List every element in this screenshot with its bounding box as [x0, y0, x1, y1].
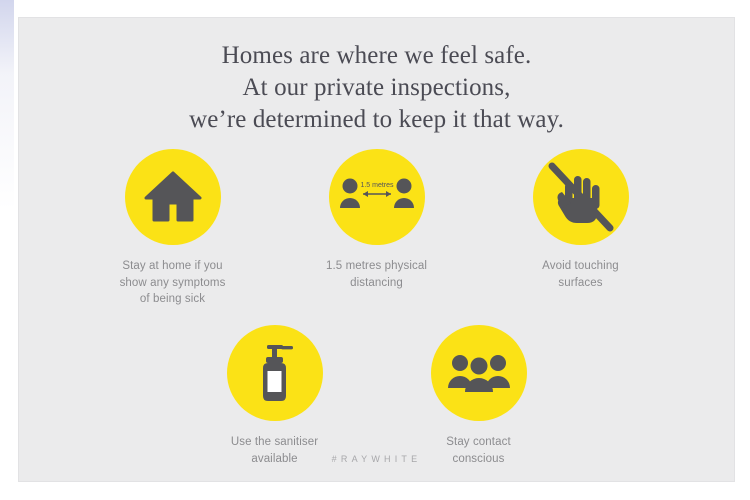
guideline-row-bottom: Use the sanitiser available [19, 325, 734, 467]
badge-avoid-touching [533, 149, 629, 245]
tile-physical-distancing: 1.5 metres 1.5 metres physical distancin… [313, 149, 441, 291]
house-icon [144, 170, 202, 224]
badge-physical-distancing: 1.5 metres [329, 149, 425, 245]
tile-use-sanitiser: Use the sanitiser available [211, 325, 339, 467]
group-of-people-icon [448, 351, 510, 395]
headline-line-1: Homes are where we feel safe. [19, 40, 734, 72]
caption-line: distancing [326, 275, 427, 291]
headline-line-3: we’re determined to keep it that way. [19, 104, 734, 136]
brand-footer: #RAYWHITE [19, 454, 734, 464]
tile-avoid-touching: Avoid touching surfaces [517, 149, 645, 291]
poster-card: Homes are where we feel safe. At our pri… [18, 17, 735, 482]
edge-color-tint [0, 0, 14, 210]
guideline-tiles: Stay at home if you show any symptoms of… [19, 149, 734, 467]
caption-line: Stay at home if you [120, 258, 226, 274]
badge-stay-at-home [125, 149, 221, 245]
caption-line: Stay contact [446, 434, 510, 450]
caption-line: of being sick [120, 291, 226, 307]
caption-line: 1.5 metres physical [326, 258, 427, 274]
hand-sanitiser-icon [253, 343, 297, 403]
caption-line: show any symptoms [120, 275, 226, 291]
caption-physical-distancing: 1.5 metres physical distancing [326, 258, 427, 291]
social-distancing-icon: 1.5 metres [340, 174, 414, 220]
caption-stay-at-home: Stay at home if you show any symptoms of… [120, 258, 226, 307]
caption-line: Use the sanitiser [231, 434, 318, 450]
guideline-row-top: Stay at home if you show any symptoms of… [19, 149, 734, 307]
badge-stay-contact-conscious [431, 325, 527, 421]
tile-stay-contact-conscious: Stay contact conscious [415, 325, 543, 467]
distance-label: 1.5 metres [360, 182, 394, 189]
tile-stay-at-home: Stay at home if you show any symptoms of… [109, 149, 237, 307]
badge-use-sanitiser [227, 325, 323, 421]
headline-line-2: At our private inspections, [19, 72, 734, 104]
caption-avoid-touching: Avoid touching surfaces [542, 258, 619, 291]
caption-line: surfaces [542, 275, 619, 291]
page-title: Homes are where we feel safe. At our pri… [19, 18, 734, 135]
caption-line: Avoid touching [542, 258, 619, 274]
no-touch-hand-icon [542, 158, 620, 236]
